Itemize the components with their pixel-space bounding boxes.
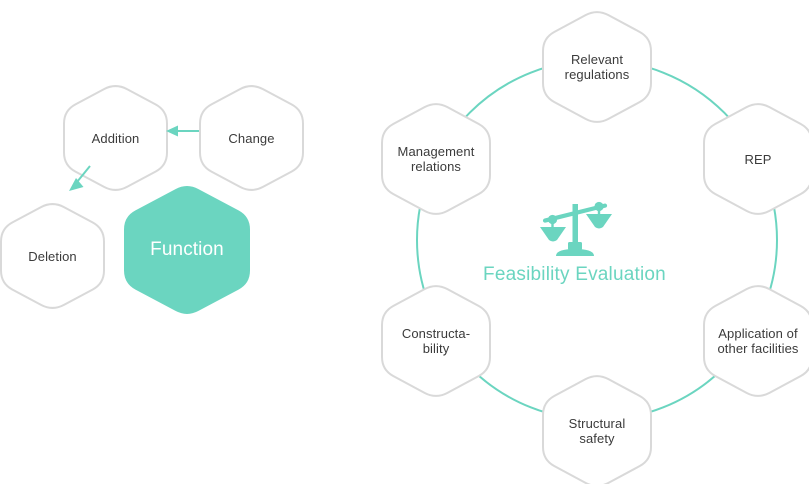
- hexagon-label-deletion: Deletion: [28, 249, 77, 264]
- hexagon-label-structural-safety: Structural safety: [569, 416, 626, 446]
- balance-scales-icon: [533, 194, 617, 258]
- hexagon-label-rep: REP: [744, 152, 771, 167]
- hexagon-structural-safety[interactable]: Structural safety: [542, 372, 652, 484]
- hexagon-label-constructability: Constructa- bility: [402, 326, 470, 356]
- hexagon-application-of-other-facilities[interactable]: Application of other facilities: [703, 282, 809, 400]
- hexagon-label-addition: Addition: [92, 131, 140, 146]
- hexagon-addition[interactable]: Addition: [63, 82, 168, 194]
- hexagon-rep[interactable]: REP: [703, 100, 809, 218]
- hexagon-label-relevant-regulations: Relevant regulations: [565, 52, 630, 82]
- feasibility-evaluation-title: Feasibility Evaluation: [483, 264, 666, 286]
- hexagon-relevant-regulations[interactable]: Relevant regulations: [542, 8, 652, 126]
- feasibility-center: Feasibility Evaluation: [460, 194, 690, 286]
- diagram-canvas: AdditionChangeDeletionFunction Relevant …: [0, 0, 809, 484]
- hexagon-function[interactable]: Function: [123, 182, 251, 318]
- hexagon-deletion[interactable]: Deletion: [0, 200, 105, 312]
- feasibility-evaluation-diagram: Relevant regulationsREPApplication of ot…: [340, 0, 809, 484]
- hexagon-label-management-relations: Management relations: [398, 144, 475, 174]
- hexagon-label-change: Change: [228, 131, 274, 146]
- arrow-change-to-addition: [166, 126, 199, 137]
- hexagon-label-function: Function: [150, 239, 224, 261]
- hexagon-constructability[interactable]: Constructa- bility: [381, 282, 491, 400]
- function-change-diagram: AdditionChangeDeletionFunction: [0, 0, 340, 484]
- hexagon-label-application-of-other-facilities: Application of other facilities: [703, 326, 809, 356]
- hexagon-change[interactable]: Change: [199, 82, 304, 194]
